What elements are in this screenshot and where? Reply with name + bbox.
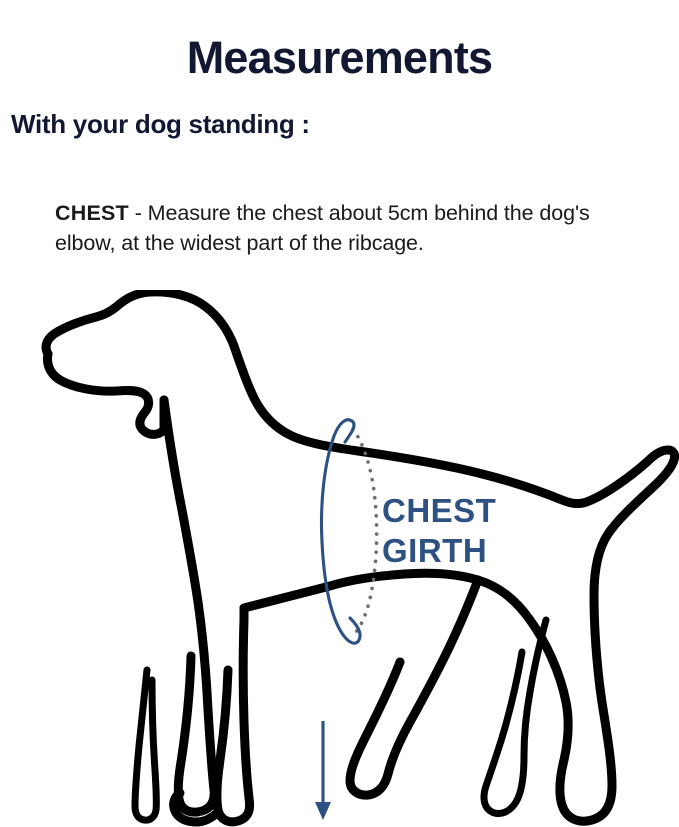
chest-instruction: CHEST - Measure the chest about 5cm behi…: [55, 198, 655, 258]
girth-ellipse-icon: CHEST GIRTH: [315, 420, 496, 827]
dog-silhouette-icon: [46, 292, 675, 822]
measurements-page: Measurements With your dog standing : CH…: [0, 0, 679, 827]
chest-instruction-body: - Measure the chest about 5cm behind the…: [55, 201, 590, 255]
girth-double-arrow: [315, 721, 331, 827]
page-title: Measurements: [0, 32, 679, 84]
dog-measurement-diagram: CHEST GIRTH: [0, 290, 679, 827]
subheading: With your dog standing :: [11, 108, 310, 140]
girth-label-line1: CHEST: [382, 492, 496, 529]
chest-instruction-lead: CHEST: [55, 201, 129, 225]
arrow-down-icon: [315, 802, 331, 820]
girth-label-line2: GIRTH: [382, 532, 487, 569]
